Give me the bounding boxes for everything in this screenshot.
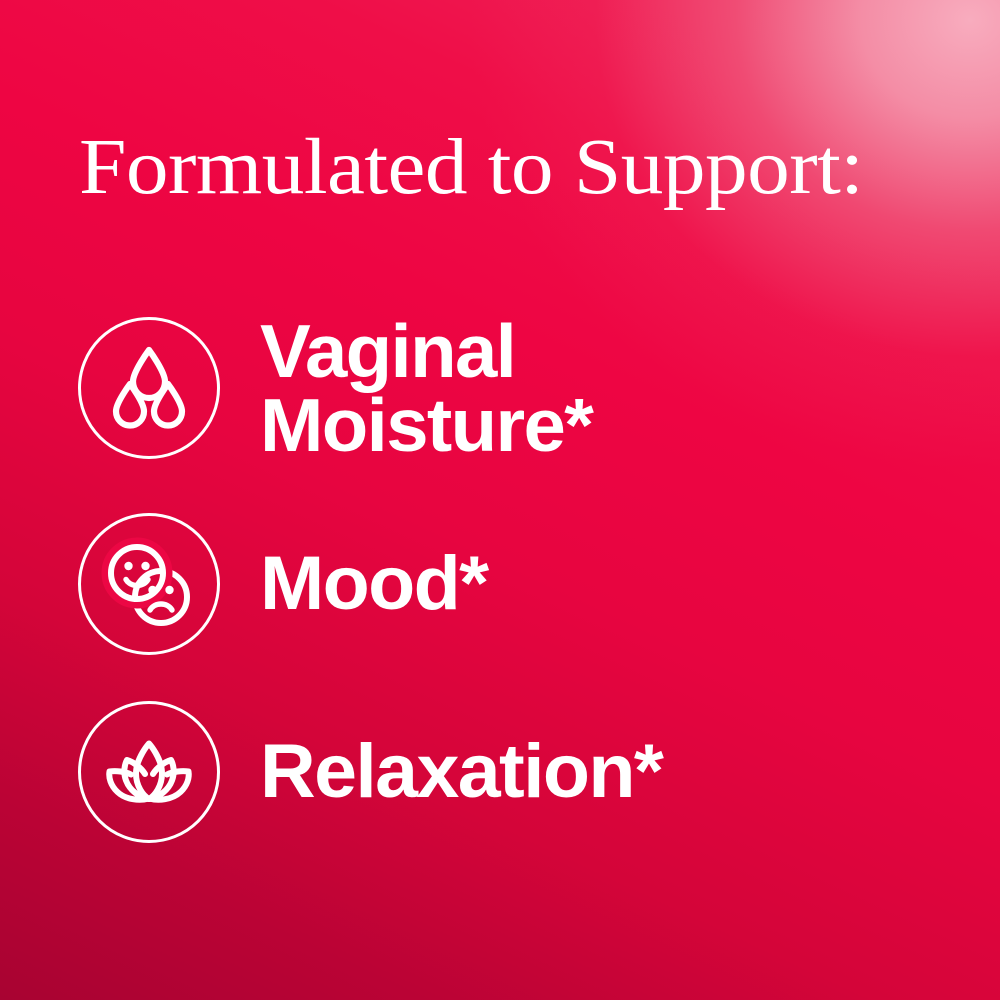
benefit-label-relaxation: Relaxation* [260,735,662,809]
benefit-item-mood: Mood* [78,513,484,655]
promo-poster: Formulated to Support: Vaginal Moisture* [0,0,1000,1000]
happy-sad-faces-icon [78,513,220,655]
water-droplets-icon [78,317,220,459]
benefits-list: Vaginal Moisture* [0,0,1000,1000]
benefit-label-mood: Mood* [260,547,488,621]
benefit-label-vaginal-moisture: Vaginal Moisture* [260,315,592,462]
benefit-item-relaxation: Relaxation* [78,701,656,843]
lotus-flower-icon [78,701,220,843]
benefit-item-vaginal-moisture: Vaginal Moisture* [78,313,587,462]
